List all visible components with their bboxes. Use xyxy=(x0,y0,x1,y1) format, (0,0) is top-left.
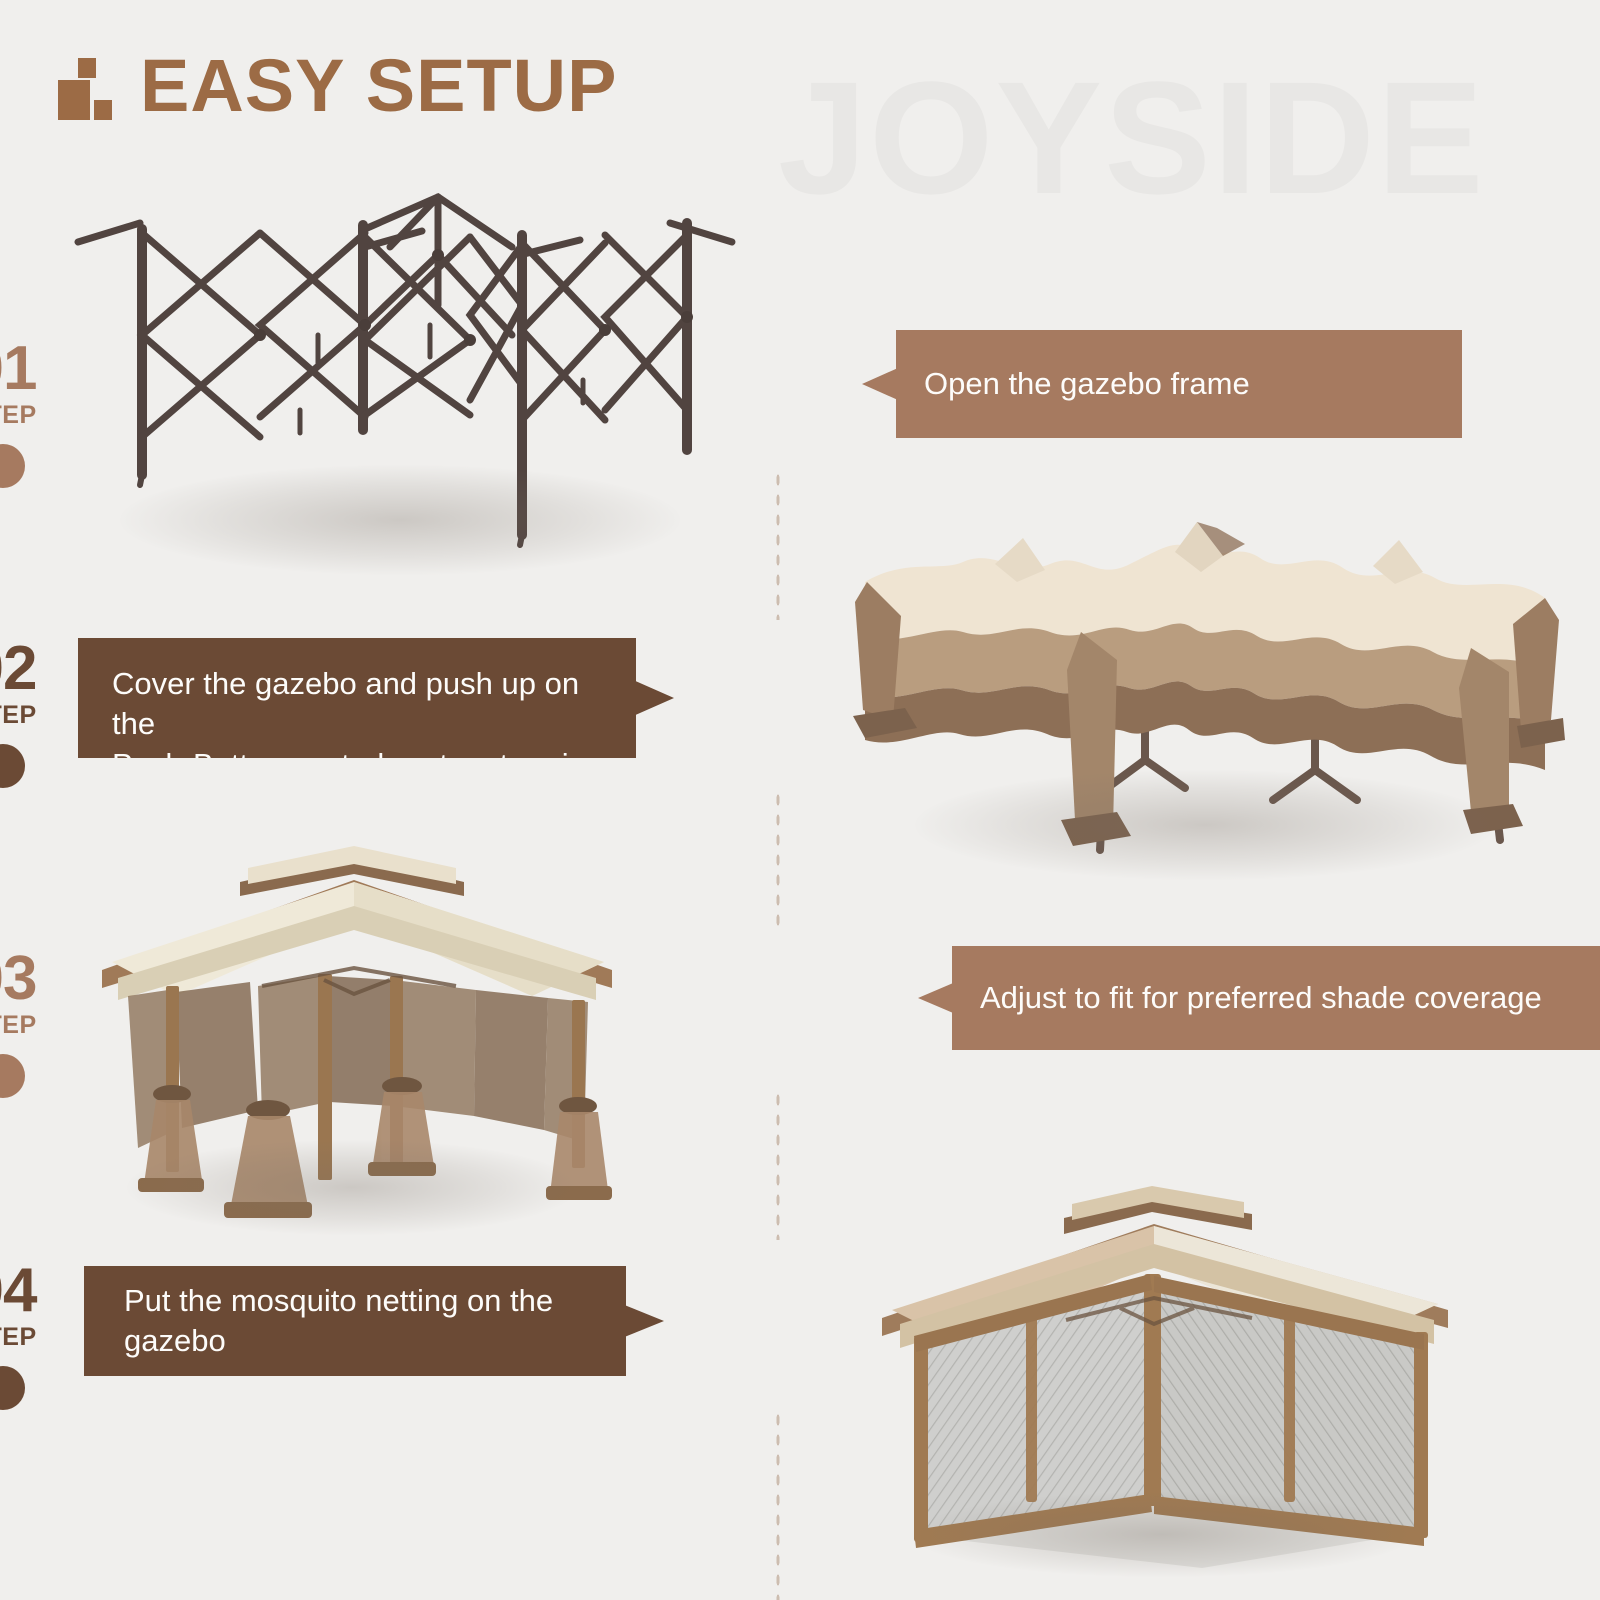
callout-text-03: Adjust to fit for preferred shade covera… xyxy=(980,978,1542,1018)
timeline-dots-4 xyxy=(775,1410,781,1600)
photo-gazebo-frame-open xyxy=(60,185,750,575)
step-bullet-03 xyxy=(0,1054,25,1098)
step-node-02[interactable]: 02 STEP xyxy=(0,640,83,788)
step-number-04: 04 xyxy=(0,1262,83,1321)
timeline-dots-3 xyxy=(775,1090,781,1240)
step-word-04: STEP xyxy=(0,1323,83,1352)
brand-watermark: JOYSIDE xyxy=(778,58,1486,218)
step-bullet-02 xyxy=(0,744,25,788)
timeline-dots-1 xyxy=(775,470,781,620)
step-number-02: 02 xyxy=(0,640,83,699)
step-node-03[interactable]: 03 STEP xyxy=(0,950,83,1098)
timeline-dots-2 xyxy=(775,790,781,930)
step-word-02: STEP xyxy=(0,701,83,730)
step-bullet-01 xyxy=(0,444,25,488)
photo-gazebo-with-mosquito-netting xyxy=(852,1132,1472,1582)
blocks-icon xyxy=(58,52,118,120)
page-header: EASY SETUP xyxy=(58,52,617,120)
step-node-04[interactable]: 04 STEP xyxy=(0,1262,83,1410)
step-node-01[interactable]: 01 STEP xyxy=(0,340,83,488)
step-bullet-04 xyxy=(0,1366,25,1410)
page-title: EASY SETUP xyxy=(140,53,617,120)
callout-text-04: Put the mosquito netting on the gazebo xyxy=(124,1281,602,1362)
callout-text-01: Open the gazebo frame xyxy=(924,364,1250,404)
callout-step-04: Put the mosquito netting on the gazebo xyxy=(84,1266,664,1376)
callout-text-02-line2: Push-Button control system to raise xyxy=(112,745,612,785)
step-number-01: 01 xyxy=(0,340,83,399)
callout-step-02: Cover the gazebo and push up on the Push… xyxy=(78,638,674,758)
photo-gazebo-canopy-draped xyxy=(845,520,1565,890)
callout-text-02-line1: Cover the gazebo and push up on the xyxy=(112,664,612,745)
callout-step-03: Adjust to fit for preferred shade covera… xyxy=(918,946,1600,1050)
step-number-03: 03 xyxy=(0,950,83,1009)
photo-gazebo-assembled-with-curtains xyxy=(72,810,642,1250)
callout-step-01: Open the gazebo frame xyxy=(862,330,1462,438)
step-word-01: STEP xyxy=(0,401,83,430)
step-word-03: STEP xyxy=(0,1011,83,1040)
